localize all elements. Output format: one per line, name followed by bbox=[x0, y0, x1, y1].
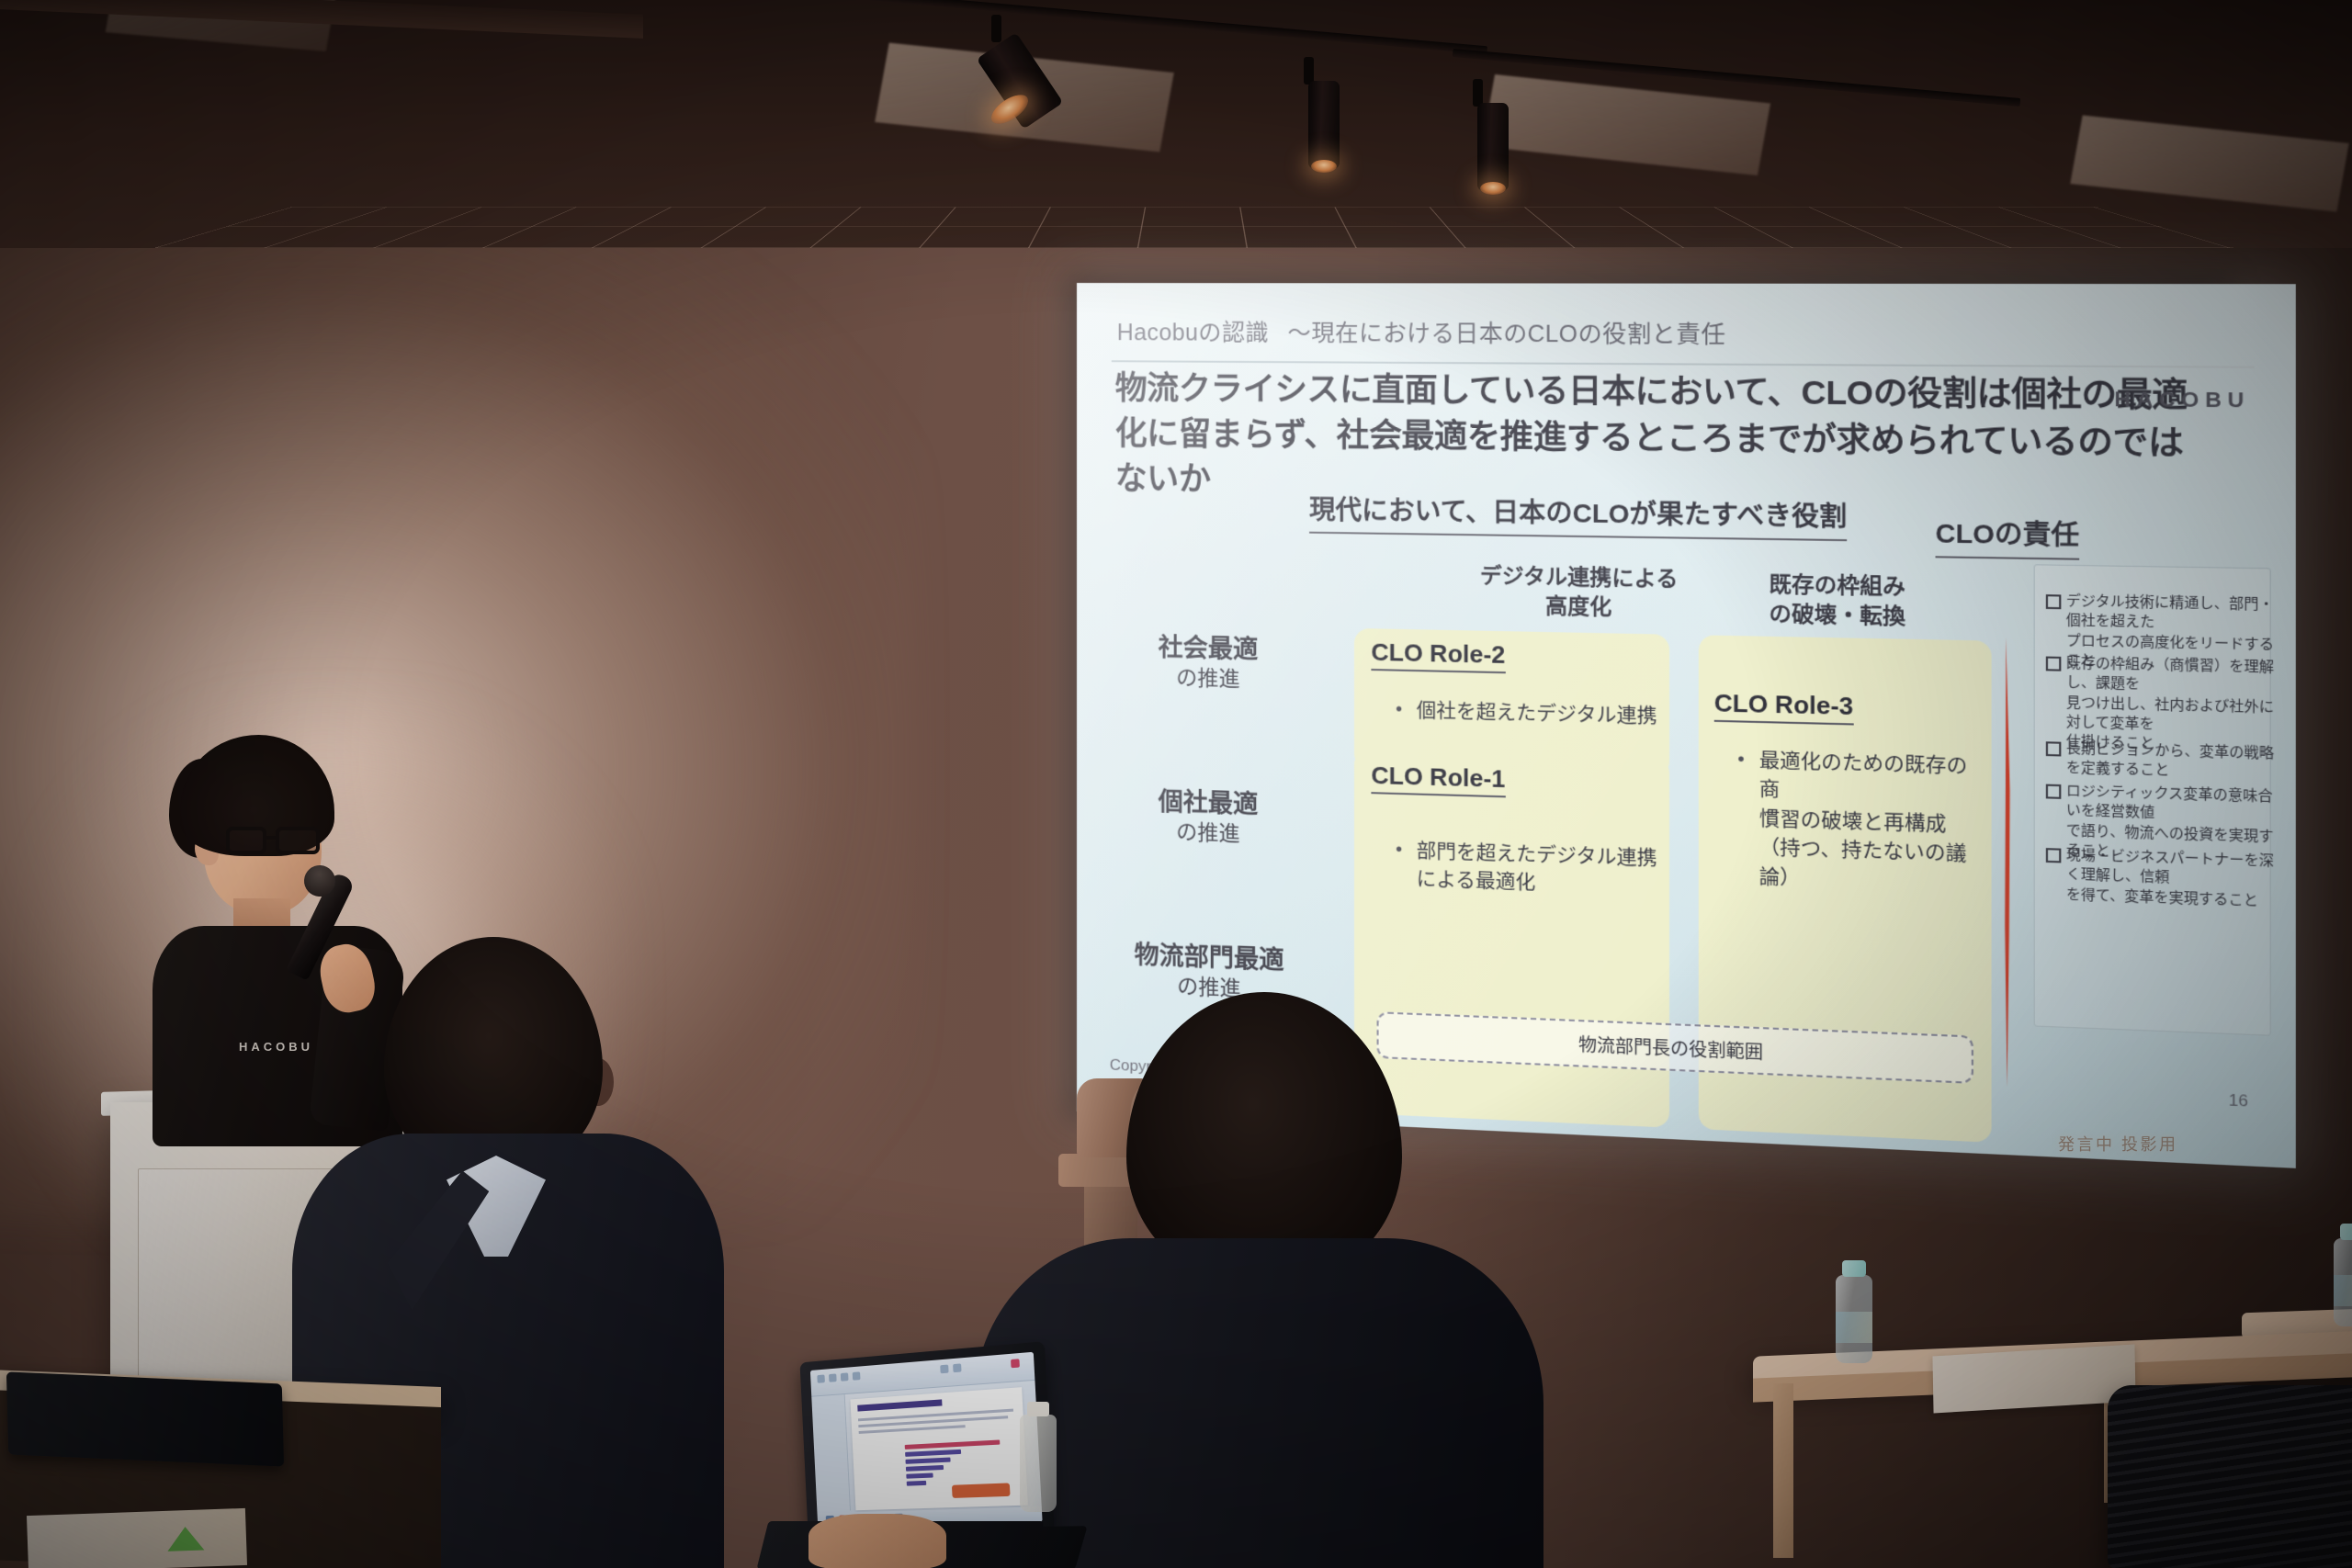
responsibility-item: 現場・ビジネスパートナーを深く理解し、信頼 を得て、変革を実現すること bbox=[2066, 846, 2278, 912]
red-arrow-divider bbox=[1997, 637, 2018, 1089]
row-label-company: 個社最適 の推進 bbox=[1102, 784, 1315, 851]
ribbon-icon bbox=[829, 1373, 837, 1382]
paper-sheet bbox=[1932, 1344, 2135, 1413]
row-label-social-sub: の推進 bbox=[1102, 663, 1315, 695]
ceiling-light-panel bbox=[2070, 115, 2348, 211]
row-label-company-sub: の推進 bbox=[1102, 817, 1315, 851]
water-bottle-foreground bbox=[1020, 1415, 1057, 1512]
slide-eyebrow: Hacobuの認識～現在における日本のCLOの役割と責任 bbox=[1117, 314, 2081, 352]
laptop-screen[interactable] bbox=[810, 1352, 1043, 1528]
responsibility-item: 長期ビジョンから、変革の戦略を定義すること bbox=[2066, 739, 2278, 784]
role-name-3: CLO Role-3 bbox=[1714, 689, 1854, 726]
laptop-chart-bar bbox=[906, 1473, 933, 1479]
role-name-2: CLO Role-2 bbox=[1371, 637, 1505, 673]
bottle-label bbox=[1836, 1312, 1872, 1343]
water-bottle bbox=[2334, 1238, 2352, 1326]
laptop-chart-bar bbox=[905, 1439, 1001, 1449]
slide-headline: 物流クライシスに直面している日本において、CLOの役割は個社の最適化に留まらず、… bbox=[1115, 366, 2211, 515]
role-section-title: 現代において、日本のCLOが果たすべき役割 bbox=[1309, 490, 1847, 541]
table-leg bbox=[1773, 1383, 1793, 1558]
ribbon-icon bbox=[940, 1365, 948, 1374]
ceiling-light-panel bbox=[1482, 74, 1770, 175]
typing-hand bbox=[808, 1514, 946, 1568]
laptop-chart-bar bbox=[905, 1450, 961, 1457]
ribbon-icon bbox=[1011, 1359, 1020, 1368]
responsibility-section-title: CLOの責任 bbox=[1936, 513, 2080, 560]
glasses-lens-right bbox=[276, 827, 320, 854]
slide-thumbnail-pane[interactable] bbox=[811, 1394, 851, 1512]
slide-page-number: 16 bbox=[2229, 1091, 2248, 1111]
role-name-1: CLO Role-1 bbox=[1371, 761, 1505, 798]
document-graphic bbox=[167, 1526, 205, 1551]
document-sheet bbox=[27, 1508, 247, 1568]
laptop-chart-bar bbox=[906, 1465, 944, 1472]
chair-mesh bbox=[2108, 1385, 2352, 1568]
role-bullet-1: 部門を超えたデジタル連携 による最適化 bbox=[1417, 837, 1658, 902]
ribbon-icon bbox=[953, 1363, 961, 1372]
laptop-chart-bar bbox=[907, 1481, 927, 1486]
spotlight-body bbox=[1308, 81, 1340, 169]
ceiling bbox=[0, 0, 2352, 248]
ribbon-icon bbox=[853, 1371, 861, 1380]
water-bottle bbox=[1836, 1275, 1872, 1363]
tablet-device[interactable] bbox=[6, 1371, 284, 1466]
column-heading-digital: デジタル連携による 高度化 bbox=[1435, 560, 1724, 625]
wall-projection-label: 発言中 投影用 bbox=[2058, 1132, 2178, 1156]
hacobu-logo: HACOBU bbox=[2114, 387, 2250, 413]
laptop-slide-canvas bbox=[850, 1387, 1027, 1510]
spotlight-arm bbox=[991, 15, 1001, 42]
bottle-cap bbox=[2340, 1224, 2352, 1240]
row-label-social-main: 社会最適 bbox=[1102, 631, 1315, 668]
laptop-slide-title bbox=[857, 1399, 942, 1411]
glasses-lens-left bbox=[226, 827, 266, 854]
laptop-chart-bar bbox=[905, 1458, 950, 1464]
ribbon-icon bbox=[817, 1374, 825, 1382]
spotlight-body bbox=[1477, 103, 1509, 191]
ribbon-icon bbox=[841, 1372, 849, 1381]
role-bullet-3: 最適化のための既存の商 慣習の破壊と再構成 （持つ、持たないの議論） bbox=[1759, 747, 1987, 899]
presenter-glasses bbox=[226, 827, 322, 856]
bottle-cap bbox=[1842, 1260, 1866, 1277]
ceiling-tile-grid bbox=[0, 207, 2352, 248]
conference-room-photo: サインイン Hacobuの認識～現在における日本のCLOの役割と責任 物流クライ… bbox=[0, 0, 2352, 1568]
spotlight-glow bbox=[1480, 182, 1506, 195]
row-label-social: 社会最適 の推進 bbox=[1102, 631, 1315, 695]
bottle-cap bbox=[1027, 1402, 1049, 1416]
bottle-label bbox=[2334, 1275, 2352, 1306]
column-heading-disruption: 既存の枠組み の破壊・転換 bbox=[1724, 569, 1951, 633]
slide-eyebrow-main: Hacobuの認識 bbox=[1117, 320, 1269, 346]
laptop-slide-button bbox=[952, 1483, 1011, 1498]
slide-eyebrow-sub: ～現在における日本のCLOの役割と責任 bbox=[1287, 321, 1725, 348]
spotlight-glow bbox=[1311, 160, 1337, 173]
